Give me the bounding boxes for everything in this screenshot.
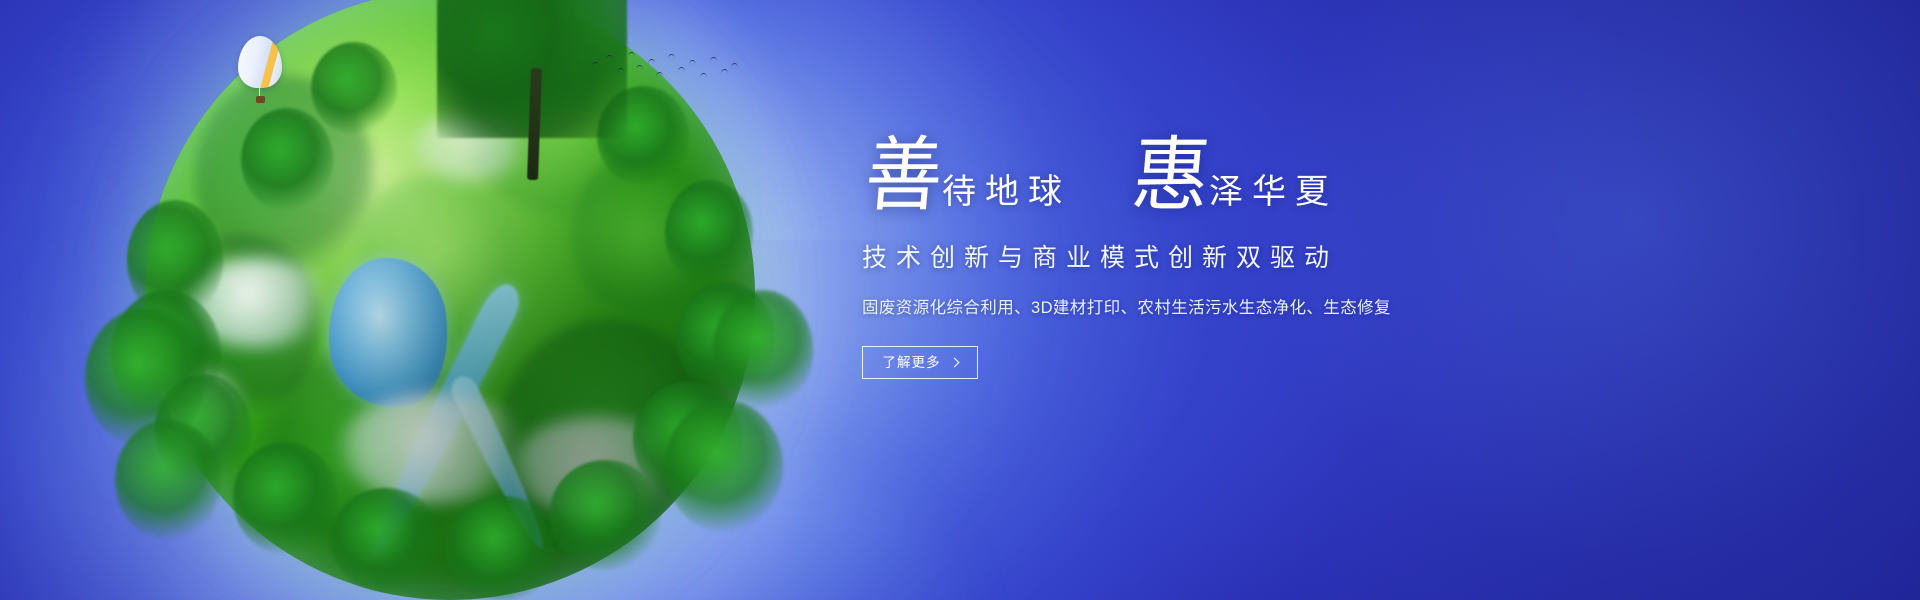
headline-small-text-1: 待地球 — [942, 176, 1071, 216]
banner-content: 善 待地球 惠 泽华夏 技术创新与商业模式创新双驱动 固废资源化综合利用、3D建… — [862, 126, 1622, 379]
headline-big-char-2: 惠 — [1129, 138, 1213, 216]
page-subtitle: 技术创新与商业模式创新双驱动 — [862, 242, 1622, 275]
headline-part-one: 善 待地球 — [862, 145, 1071, 216]
page-description: 固废资源化综合利用、3D建材打印、农村生活污水生态净化、生态修复 — [862, 297, 1622, 321]
chevron-right-icon — [949, 358, 959, 368]
headline-big-char-1: 善 — [862, 138, 946, 216]
headline-part-two: 惠 泽华夏 — [1129, 145, 1338, 216]
hero-banner: 善 待地球 惠 泽华夏 技术创新与商业模式创新双驱动 固废资源化综合利用、3D建… — [0, 0, 1920, 600]
learn-more-button[interactable]: 了解更多 — [862, 346, 978, 379]
page-title: 善 待地球 惠 泽华夏 — [862, 126, 1622, 216]
headline-small-text-2: 泽华夏 — [1209, 176, 1338, 216]
learn-more-label: 了解更多 — [883, 356, 941, 370]
